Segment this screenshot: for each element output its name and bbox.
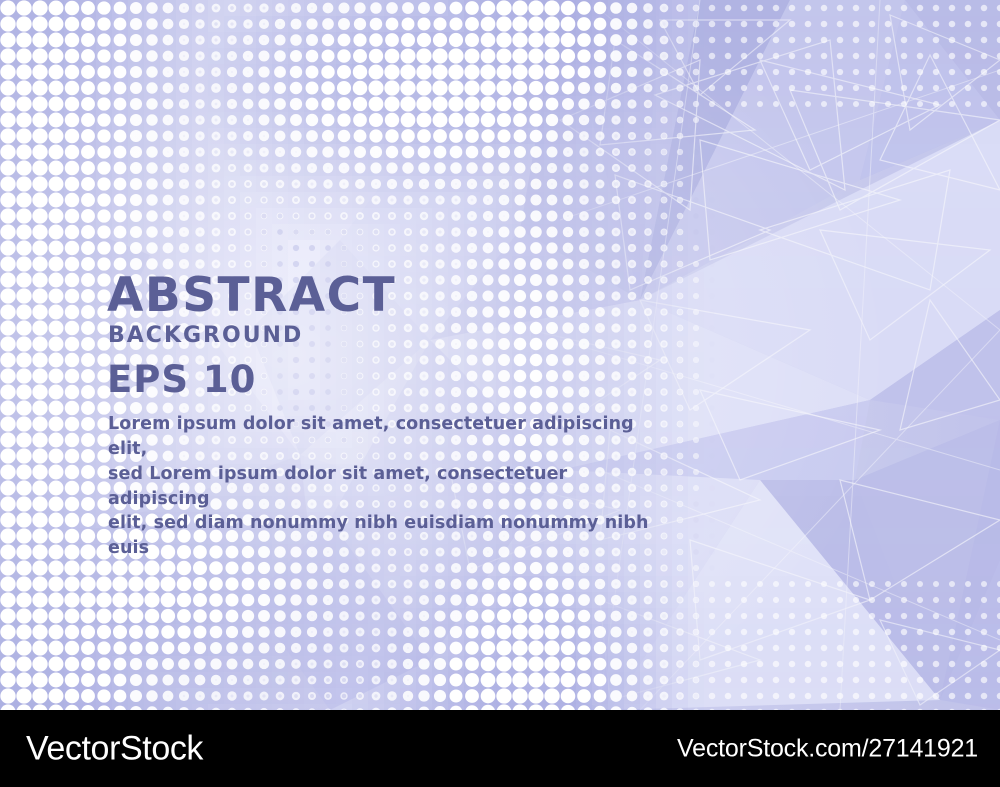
- body-line-2: sed Lorem ipsum dolor sit amet, consecte…: [108, 462, 668, 512]
- watermark-bar: VectorStock VectorStock.com/27141921: [0, 710, 1000, 787]
- page-subtitle: BACKGROUND: [108, 325, 705, 347]
- body-paragraph: Lorem ipsum dolor sit amet, consectetuer…: [108, 412, 668, 561]
- vectorstock-url: VectorStock.com/27141921: [677, 734, 978, 763]
- text-block: ABSTRACT BACKGROUND EPS 10 Lorem ipsum d…: [105, 272, 705, 561]
- page-title: ABSTRACT: [107, 272, 705, 319]
- vector-artwork-page: ABSTRACT BACKGROUND EPS 10 Lorem ipsum d…: [0, 0, 1000, 787]
- version-label: EPS 10: [107, 361, 705, 398]
- vectorstock-logo: VectorStock: [26, 729, 203, 768]
- body-line-1: Lorem ipsum dolor sit amet, consectetuer…: [108, 412, 668, 462]
- body-line-3: elit, sed diam nonummy nibh euisdiam non…: [108, 511, 668, 561]
- artwork-canvas: ABSTRACT BACKGROUND EPS 10 Lorem ipsum d…: [0, 0, 1000, 710]
